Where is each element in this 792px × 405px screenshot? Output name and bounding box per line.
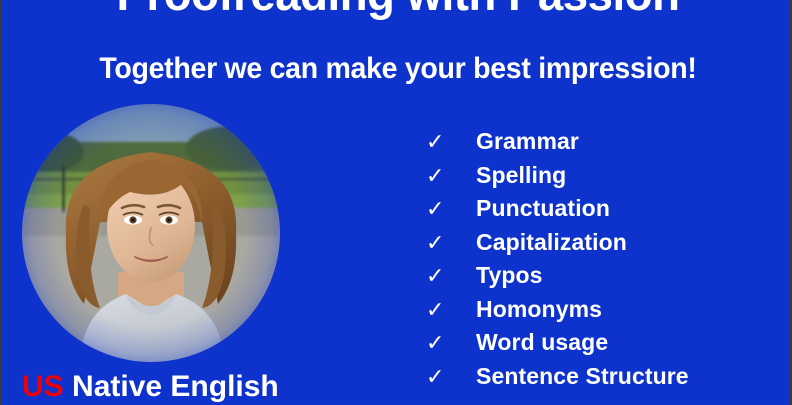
- checklist-item: ✓ Typos: [426, 264, 766, 298]
- checklist-item: ✓ Sentence Structure: [426, 365, 766, 399]
- services-checklist: ✓ Grammar ✓ Spelling ✓ Punctuation ✓ Cap…: [426, 130, 766, 398]
- checklist-item: ✓ Capitalization: [426, 231, 766, 265]
- checklist-item-label: Typos: [476, 264, 543, 287]
- tagline-text: Native English: [72, 370, 279, 403]
- checklist-item: ✓ Punctuation: [426, 197, 766, 231]
- checklist-item-label: Homonyms: [476, 298, 602, 321]
- checklist-item-label: Grammar: [476, 130, 579, 153]
- portrait-photo: [22, 104, 280, 362]
- checklist-item-label: Spelling: [476, 164, 566, 187]
- check-icon: ✓: [426, 165, 476, 187]
- check-icon: ✓: [426, 265, 476, 287]
- tagline-spacer: [64, 370, 72, 403]
- check-icon: ✓: [426, 299, 476, 321]
- checklist-item-label: Punctuation: [476, 197, 610, 220]
- country-code-label: US: [22, 370, 64, 403]
- checklist-item-label: Sentence Structure: [476, 365, 689, 388]
- check-icon: ✓: [426, 366, 476, 388]
- proofreading-service-banner: Proofreading with Passion Together we ca…: [0, 0, 792, 405]
- checklist-item-label: Capitalization: [476, 231, 627, 254]
- checklist-item: ✓ Spelling: [426, 164, 766, 198]
- check-icon: ✓: [426, 131, 476, 153]
- check-icon: ✓: [426, 232, 476, 254]
- checklist-item: ✓ Word usage: [426, 331, 766, 365]
- banner-headline: Proofreading with Passion: [14, 0, 782, 20]
- check-icon: ✓: [426, 332, 476, 354]
- checklist-item: ✓ Grammar: [426, 130, 766, 164]
- footer-tagline: US Native English: [22, 369, 279, 405]
- check-icon: ✓: [426, 198, 476, 220]
- checklist-item: ✓ Homonyms: [426, 298, 766, 332]
- banner-subheadline: Together we can make your best impressio…: [22, 52, 774, 86]
- checklist-item-label: Word usage: [476, 331, 608, 354]
- portrait-image: [22, 104, 280, 362]
